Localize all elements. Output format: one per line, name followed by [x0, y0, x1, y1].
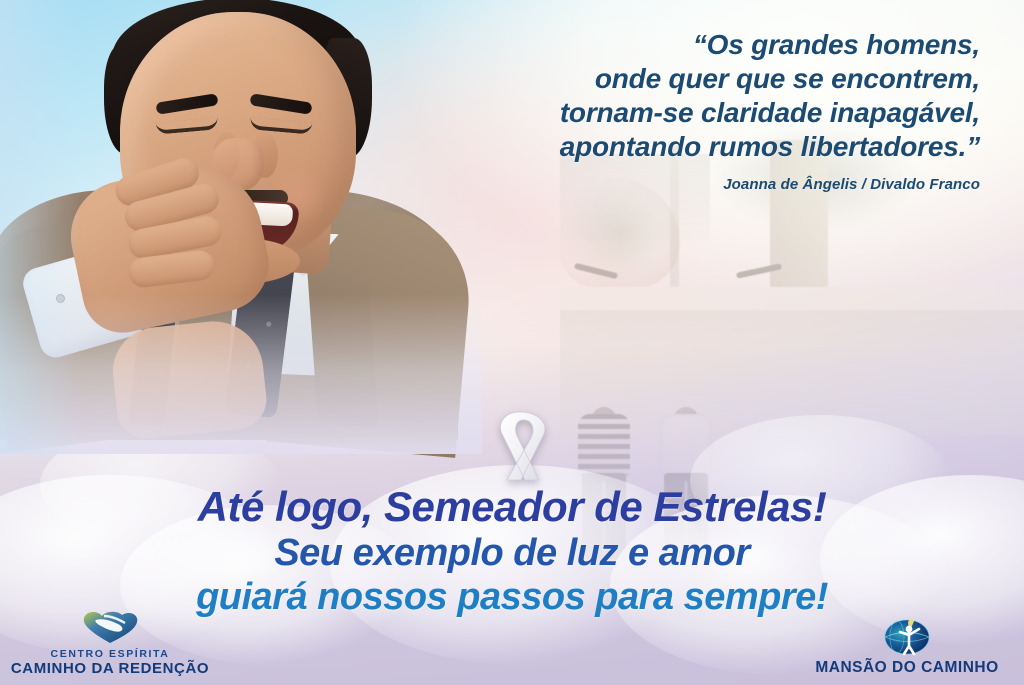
quote-line-2: onde quer que se encontrem,	[420, 62, 980, 96]
logo-right-text: MANSÃO DO CAMINHO	[802, 659, 1012, 677]
logo-centro-espirita: CENTRO ESPÍRITA CAMINHO DA REDENÇÃO	[10, 609, 210, 677]
quote-block: “Os grandes homens, onde quer que se enc…	[420, 28, 980, 193]
headline-line-2: Seu exemplo de luz e amor	[0, 534, 1024, 572]
quote-author: Joanna de Ângelis / Divaldo Franco	[420, 176, 980, 193]
heart-hands-icon	[80, 609, 140, 645]
portrait-left-fade	[0, 0, 82, 454]
logo-left-line-1: CENTRO ESPÍRITA	[10, 648, 210, 660]
logo-mansao-do-caminho: MANSÃO DO CAMINHO	[802, 616, 1012, 677]
poster-canvas: “Os grandes homens, onde quer que se enc…	[0, 0, 1024, 685]
portrait-divaldo-franco	[0, 0, 462, 424]
globe-figure-icon	[879, 616, 935, 656]
mourning-ribbon-icon	[487, 408, 553, 486]
quote-line-4: apontando rumos libertadores.”	[420, 130, 980, 164]
quote-line-1: “Os grandes homens,	[420, 28, 980, 62]
headline-block: Até logo, Semeador de Estrelas! Seu exem…	[0, 486, 1024, 616]
logo-left-line-2: CAMINHO DA REDENÇÃO	[10, 660, 210, 677]
quote-line-3: tornam-se claridade inapagável,	[420, 96, 980, 130]
headline-line-1: Até logo, Semeador de Estrelas!	[0, 486, 1024, 528]
